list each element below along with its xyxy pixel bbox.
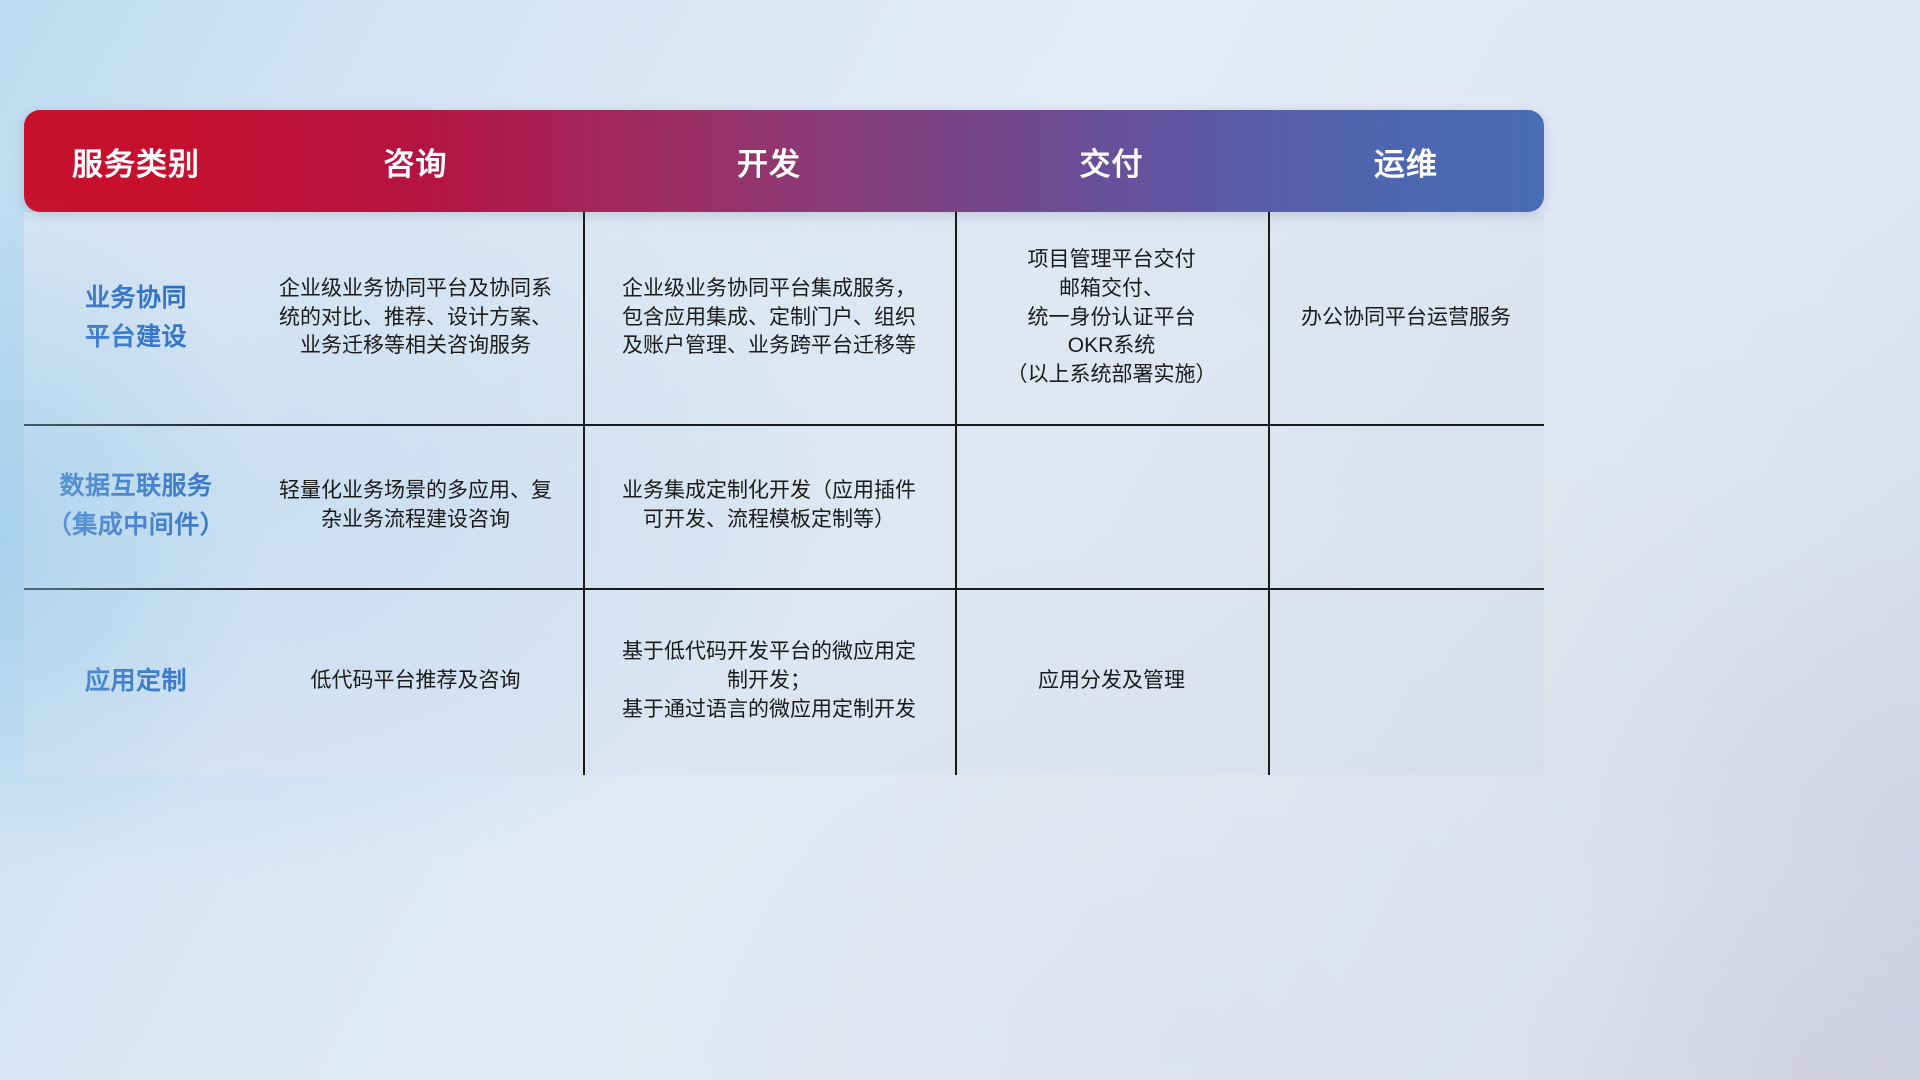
row-1-development: 企业级业务协同平台集成服务， 包含应用集成、定制门户、组织 及账户管理、业务跨平…	[583, 212, 955, 424]
row-1-category: 业务协同 平台建设	[24, 212, 248, 424]
table-header-service-category: 服务类别	[24, 110, 248, 212]
column-divider-development-delivery	[955, 212, 957, 775]
row-2-consulting: 轻量化业务场景的多应用、复 杂业务流程建设咨询	[248, 424, 583, 588]
row-3-operations	[1268, 588, 1544, 775]
slide-canvas: 服务类别 咨询 开发 交付 运维 业务协同 平台建设 企业级业务协同平台及协同系…	[0, 0, 1920, 1080]
row-2-development: 业务集成定制化开发（应用插件 可开发、流程模板定制等）	[583, 424, 955, 588]
table-row: 应用定制 低代码平台推荐及咨询 基于低代码开发平台的微应用定 制开发； 基于通过…	[24, 588, 1544, 775]
row-2-delivery	[955, 424, 1268, 588]
row-3-consulting: 低代码平台推荐及咨询	[248, 588, 583, 775]
row-divider-2-3	[24, 588, 1544, 590]
row-3-delivery: 应用分发及管理	[955, 588, 1268, 775]
row-3-category: 应用定制	[24, 588, 248, 775]
table-header-delivery: 交付	[955, 110, 1268, 212]
row-2-operations	[1268, 424, 1544, 588]
row-2-category: 数据互联服务 （集成中间件）	[24, 424, 248, 588]
row-3-development: 基于低代码开发平台的微应用定 制开发； 基于通过语言的微应用定制开发	[583, 588, 955, 775]
row-1-consulting: 企业级业务协同平台及协同系 统的对比、推荐、设计方案、 业务迁移等相关咨询服务	[248, 212, 583, 424]
table-header-development: 开发	[583, 110, 955, 212]
table-row: 数据互联服务 （集成中间件） 轻量化业务场景的多应用、复 杂业务流程建设咨询 业…	[24, 424, 1544, 588]
service-matrix-table: 服务类别 咨询 开发 交付 运维 业务协同 平台建设 企业级业务协同平台及协同系…	[24, 110, 1544, 775]
table-header-row: 服务类别 咨询 开发 交付 运维	[24, 110, 1544, 212]
row-divider-1-2	[24, 424, 1544, 426]
table-row: 业务协同 平台建设 企业级业务协同平台及协同系 统的对比、推荐、设计方案、 业务…	[24, 212, 1544, 424]
row-1-operations: 办公协同平台运营服务	[1268, 212, 1544, 424]
table-header-operations: 运维	[1268, 110, 1544, 212]
row-1-delivery: 项目管理平台交付 邮箱交付、 统一身份认证平台 OKR系统 （以上系统部署实施）	[955, 212, 1268, 424]
column-divider-delivery-operations	[1268, 212, 1270, 775]
table-header-consulting: 咨询	[248, 110, 583, 212]
column-divider-consulting-development	[583, 212, 585, 775]
